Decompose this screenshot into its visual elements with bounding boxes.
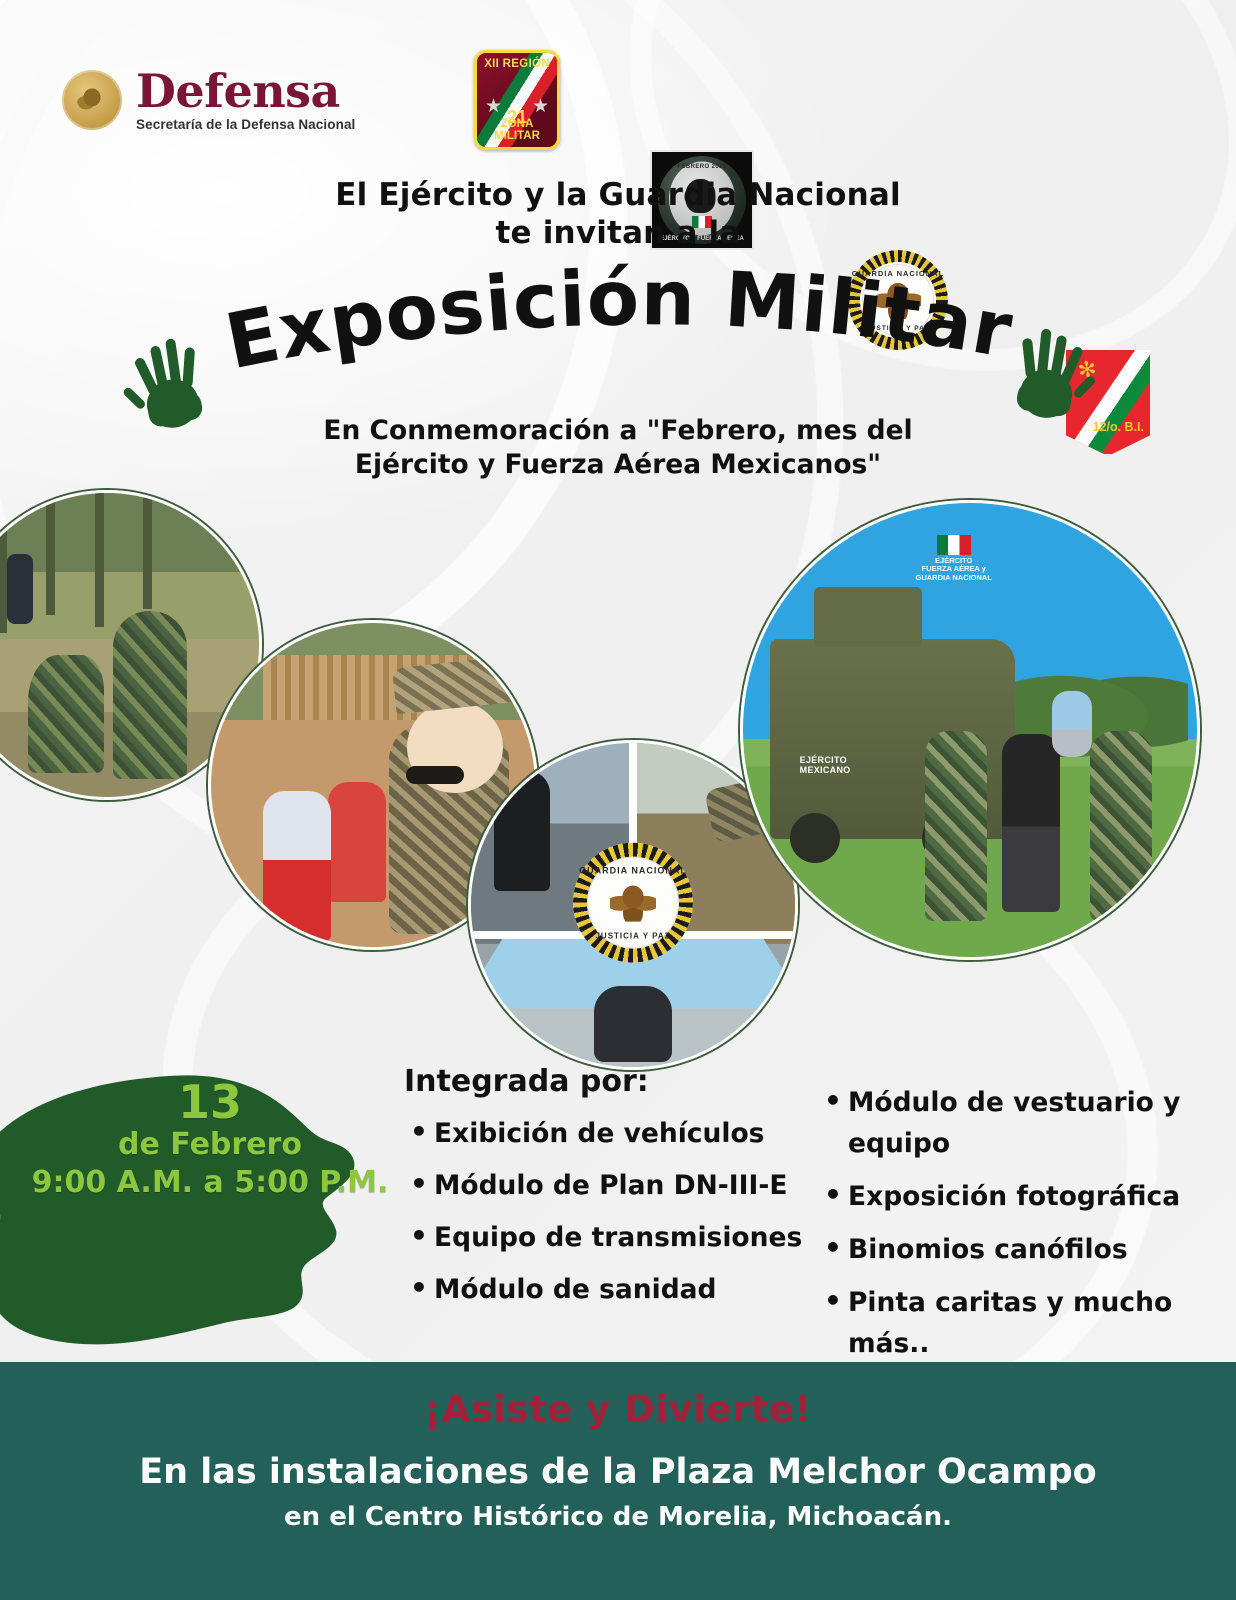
- list-item: Exposición fotográfica: [818, 1176, 1236, 1217]
- vehicle-plate-line-2: MEXICANO: [800, 765, 851, 775]
- list-item: Binomios canófilos: [818, 1229, 1236, 1270]
- vehicle-plate: EJÉRCITO MEXICANO: [800, 755, 851, 775]
- list-item: Módulo de sanidad: [404, 1264, 834, 1316]
- event-month: de Febrero: [20, 1126, 400, 1164]
- list-item: Módulo de vestuario y equipo: [818, 1082, 1236, 1164]
- photo-banner: EJÉRCITO FUERZA AÉREA y GUARDIA NACIONAL: [916, 535, 992, 583]
- poster-root: Defensa Secretaría de la Defensa Naciona…: [0, 0, 1236, 1600]
- event-date-block: 13 de Febrero 9:00 A.M. a 5:00 P.M.: [20, 1078, 400, 1202]
- guardia-nacional-seal: GUARDIA NACIONAL JUSTICIA Y PAZ: [573, 843, 693, 963]
- venue-line-2: en el Centro Histórico de Morelia, Micho…: [0, 1500, 1236, 1534]
- mexican-coat-of-arms-icon: [62, 70, 122, 130]
- page-title: Exposición Militar: [130, 258, 1110, 408]
- handprint-right-icon: [993, 304, 1106, 427]
- gn-seal-bottom-label: JUSTICIA Y PAZ: [573, 932, 693, 941]
- program-list-left: Exibición de vehículos Módulo de Plan DN…: [404, 1108, 834, 1316]
- invitation-text: El Ejército y la Guardia Nacional te inv…: [0, 176, 1236, 252]
- photo-armoured-vehicle-family: EJÉRCITO FUERZA AÉREA y GUARDIA NACIONAL…: [740, 500, 1200, 960]
- page-title-text: Exposición Militar: [218, 258, 1019, 386]
- program-list-right: Módulo de vestuario y equipo Exposición …: [818, 1082, 1236, 1376]
- mexican-flag-icon: [937, 535, 971, 555]
- event-time: 9:00 A.M. a 5:00 P.M.: [20, 1164, 400, 1202]
- list-item: Pinta caritas y mucho más..: [818, 1282, 1236, 1364]
- eagle-icon: [610, 884, 656, 922]
- commemoration-line-2: Ejército y Fuerza Aérea Mexicanos": [0, 448, 1236, 482]
- defensa-wordmark: Defensa: [136, 68, 355, 114]
- logo-bar: Defensa Secretaría de la Defensa Naciona…: [0, 40, 1236, 160]
- invitation-line-1: El Ejército y la Guardia Nacional: [0, 176, 1236, 214]
- venue-line-1: En las instalaciones de la Plaza Melchor…: [0, 1450, 1236, 1494]
- program-heading: Integrada por:: [404, 1064, 649, 1099]
- xii-region-label: XII REGIÓN: [477, 58, 557, 70]
- xii-region-badge: XII REGIÓN ★ ★ 21 ZONA MILITAR: [474, 50, 560, 150]
- commemoration-line-1: En Conmemoración a "Febrero, mes del: [0, 414, 1236, 448]
- footer-banner: ¡Asiste y Divierte! En las instalaciones…: [0, 1362, 1236, 1600]
- photo-scene: EJÉRCITO FUERZA AÉREA y GUARDIA NACIONAL…: [743, 503, 1197, 957]
- call-to-action: ¡Asiste y Divierte!: [0, 1388, 1236, 1432]
- event-day: 13: [20, 1078, 400, 1126]
- sedena-logo: Defensa Secretaría de la Defensa Naciona…: [62, 68, 355, 132]
- commemoration-text: En Conmemoración a "Febrero, mes del Ejé…: [0, 414, 1236, 482]
- invitation-line-2: te invitan a la: [0, 214, 1236, 252]
- list-item: Módulo de Plan DN-III-E: [404, 1160, 834, 1212]
- gn-seal-top-label: GUARDIA NACIONAL: [573, 866, 693, 876]
- vehicle-plate-line-1: EJÉRCITO: [800, 755, 851, 765]
- fa-badge-top-label: FEBRERO 2025: [652, 164, 752, 170]
- banner-line-3: GUARDIA NACIONAL: [916, 574, 992, 583]
- list-item: Exibición de vehículos: [404, 1108, 834, 1160]
- zona-militar-label: ZONA MILITAR: [477, 118, 557, 142]
- defensa-subtitle: Secretaría de la Defensa Nacional: [136, 117, 355, 132]
- list-item: Equipo de transmisiones: [404, 1212, 834, 1264]
